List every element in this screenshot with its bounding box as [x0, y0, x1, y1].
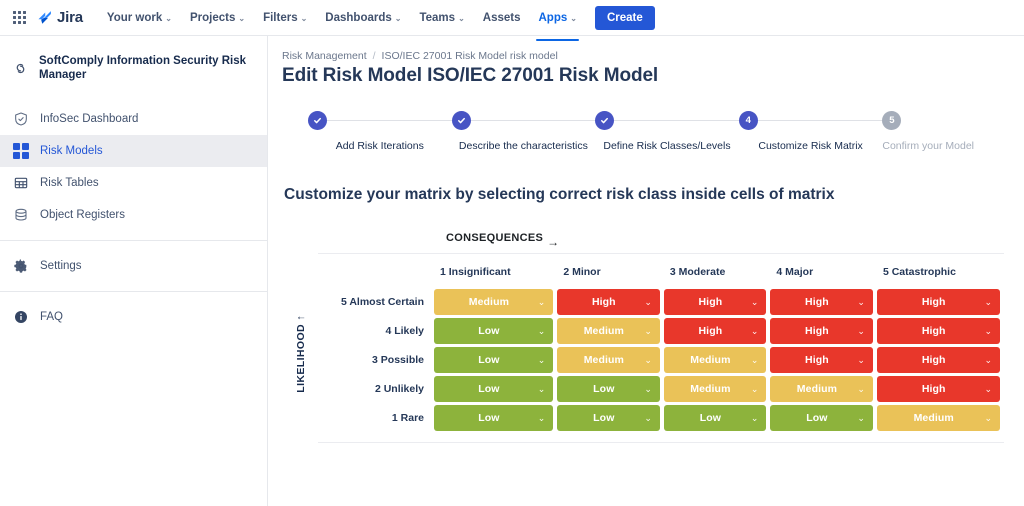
matrix-cell-value: High: [778, 354, 855, 366]
chevron-down-icon[interactable]: ⌄: [644, 385, 652, 394]
chevron-down-icon[interactable]: ⌄: [984, 327, 992, 336]
chevron-down-icon[interactable]: ⌄: [751, 356, 759, 365]
sidebar-spacer: [0, 89, 267, 103]
chevron-down-icon[interactable]: ⌄: [538, 414, 546, 423]
nav-item-your-work[interactable]: Your work ⌄: [99, 4, 180, 32]
chevron-down-icon[interactable]: ⌄: [857, 356, 865, 365]
risk-matrix: LIKELIHOOD ↑ CONSEQUENCES → 1 Insignific…: [282, 224, 1004, 443]
matrix-cell-value: Medium: [672, 354, 749, 366]
nav-item-label: Your work: [107, 12, 162, 24]
jira-wordmark: Jira: [57, 9, 83, 26]
matrix-column-header: 3 Moderate: [664, 257, 767, 286]
matrix-cell-select[interactable]: Low⌄: [434, 318, 553, 344]
matrix-cell-container: High⌄: [770, 318, 873, 344]
matrix-corner-cell: [322, 257, 430, 286]
database-stack-icon: [12, 206, 30, 224]
nav-item-dashboards[interactable]: Dashboards ⌄: [317, 4, 409, 32]
consequences-axis-label: CONSEQUENCES: [446, 232, 543, 244]
matrix-cell-value: Low: [442, 383, 536, 395]
matrix-rows: 5 Almost CertainMedium⌄High⌄High⌄High⌄Hi…: [322, 289, 1000, 431]
sidebar-item-faq[interactable]: FAQ: [0, 301, 267, 333]
jira-logo-icon: [36, 9, 53, 26]
matrix-cell-container: Low⌄: [434, 318, 553, 344]
sidebar: SoftComply Information Security Risk Man…: [0, 36, 268, 506]
sidebar-divider: [0, 240, 267, 241]
app-switcher-grid-icon[interactable]: [10, 9, 28, 27]
matrix-cell-value: High: [672, 296, 749, 308]
nav-item-label: Assets: [483, 12, 521, 24]
nav-item-teams[interactable]: Teams ⌄: [411, 4, 472, 32]
sidebar-item-label: Risk Tables: [40, 177, 99, 189]
matrix-cell-value: Low: [565, 383, 642, 395]
chevron-down-icon[interactable]: ⌄: [751, 385, 759, 394]
matrix-cell-container: Low⌄: [664, 405, 767, 431]
matrix-cell-select[interactable]: High⌄: [664, 318, 767, 344]
chevron-down-icon[interactable]: ⌄: [538, 327, 546, 336]
matrix-cell-container: Medium⌄: [434, 289, 553, 315]
sidebar-item-risk-models[interactable]: Risk Models: [0, 135, 267, 167]
chevron-down-icon: ⌄: [238, 15, 245, 23]
matrix-row: 4 LikelyLow⌄Medium⌄High⌄High⌄High⌄: [322, 318, 1000, 344]
step-marker-upcoming: 5: [882, 111, 901, 130]
breadcrumb: Risk Management / ISO/IEC 27001 Risk Mod…: [282, 50, 1004, 62]
matrix-row-label: 5 Almost Certain: [322, 289, 430, 315]
matrix-cell-select[interactable]: Low⌄: [557, 405, 660, 431]
chevron-down-icon[interactable]: ⌄: [644, 414, 652, 423]
main-inner: Risk Management / ISO/IEC 27001 Risk Mod…: [268, 50, 1024, 443]
nav-item-projects[interactable]: Projects ⌄: [182, 4, 253, 32]
nav-item-label: Teams: [419, 12, 455, 24]
matrix-cell-value: Medium: [565, 325, 642, 337]
step-marker-complete: [452, 111, 471, 130]
matrix-cell-container: Low⌄: [557, 376, 660, 402]
matrix-cell-select[interactable]: High⌄: [557, 289, 660, 315]
jira-home-link[interactable]: Jira: [36, 9, 83, 26]
nav-item-apps[interactable]: Apps ⌄: [530, 4, 584, 32]
matrix-table: 1 Insignificant 2 Minor 3 Moderate 4 Maj…: [318, 254, 1004, 434]
matrix-cell-value: High: [885, 296, 982, 308]
matrix-cell-value: High: [778, 325, 855, 337]
chevron-down-icon[interactable]: ⌄: [538, 356, 546, 365]
sidebar-item-settings[interactable]: Settings: [0, 250, 267, 282]
matrix-cell-select[interactable]: Medium⌄: [664, 376, 767, 402]
matrix-cell-container: High⌄: [877, 289, 1000, 315]
matrix-cell-container: Medium⌄: [664, 376, 767, 402]
matrix-cell-select[interactable]: High⌄: [770, 318, 873, 344]
matrix-cell-container: Low⌄: [557, 405, 660, 431]
page-title: Edit Risk Model ISO/IEC 27001 Risk Model: [282, 65, 1004, 87]
likelihood-axis-label: LIKELIHOOD ↑: [295, 315, 307, 393]
matrix-cell-container: High⌄: [877, 318, 1000, 344]
chevron-down-icon: ⌄: [395, 15, 402, 23]
chevron-down-icon[interactable]: ⌄: [857, 385, 865, 394]
matrix-cell-container: Medium⌄: [877, 405, 1000, 431]
sidebar-app-title: SoftComply Information Security Risk Man…: [39, 54, 253, 83]
chevron-down-icon: ⌄: [301, 15, 308, 23]
matrix-row: 5 Almost CertainMedium⌄High⌄High⌄High⌄Hi…: [322, 289, 1000, 315]
matrix-row: 3 PossibleLow⌄Medium⌄Medium⌄High⌄High⌄: [322, 347, 1000, 373]
chevron-down-icon: ⌄: [458, 15, 465, 23]
matrix-cell-select[interactable]: High⌄: [664, 289, 767, 315]
nav-item-label: Dashboards: [325, 12, 391, 24]
grid-squares-icon: [12, 142, 30, 160]
create-button[interactable]: Create: [595, 6, 655, 30]
step-marker-complete: [308, 111, 327, 130]
section-title: Customize your matrix by selecting corre…: [284, 186, 1004, 204]
chevron-down-icon[interactable]: ⌄: [538, 298, 546, 307]
matrix-cell-container: Low⌄: [770, 405, 873, 431]
chevron-down-icon[interactable]: ⌄: [984, 298, 992, 307]
chevron-down-icon[interactable]: ⌄: [538, 385, 546, 394]
sidebar-item-infosec-dashboard[interactable]: InfoSec Dashboard: [0, 103, 267, 135]
matrix-cell-container: High⌄: [664, 318, 767, 344]
chevron-down-icon[interactable]: ⌄: [857, 414, 865, 423]
matrix-cell-select[interactable]: High⌄: [770, 289, 873, 315]
matrix-row: 2 UnlikelyLow⌄Low⌄Medium⌄Medium⌄High⌄: [322, 376, 1000, 402]
matrix-cell-value: High: [885, 325, 982, 337]
sidebar-item-label: Object Registers: [40, 209, 125, 221]
step-label: Define Risk Classes/Levels: [603, 140, 730, 152]
matrix-cell-select[interactable]: High⌄: [877, 318, 1000, 344]
matrix-cell-container: High⌄: [877, 347, 1000, 373]
matrix-cell-container: Medium⌄: [664, 347, 767, 373]
matrix-cell-value: Low: [672, 412, 749, 424]
table-icon: [12, 174, 30, 192]
nav-item-filters[interactable]: Filters ⌄: [255, 4, 315, 32]
matrix-row-label: 1 Rare: [322, 405, 430, 431]
matrix-cell-value: High: [885, 383, 982, 395]
wizard-stepper: Add Risk Iterations Describe the charact…: [282, 111, 1004, 152]
step-label: Confirm your Model: [882, 140, 974, 152]
nav-item-label: Filters: [263, 12, 298, 24]
matrix-cell-value: Low: [442, 412, 536, 424]
chevron-down-icon[interactable]: ⌄: [857, 298, 865, 307]
nav-item-label: Projects: [190, 12, 235, 24]
step-label: Describe the characteristics: [459, 140, 588, 152]
main-content: Risk Management / ISO/IEC 27001 Risk Mod…: [268, 36, 1024, 506]
matrix-cell-container: Medium⌄: [770, 376, 873, 402]
step-label: Add Risk Iterations: [336, 140, 424, 152]
chevron-down-icon[interactable]: ⌄: [857, 327, 865, 336]
matrix-cell-select[interactable]: Low⌄: [434, 376, 553, 402]
matrix-cell-value: Medium: [565, 354, 642, 366]
matrix-cell-select[interactable]: High⌄: [770, 347, 873, 373]
likelihood-axis: LIKELIHOOD ↑: [284, 224, 318, 443]
matrix-cell-value: High: [885, 354, 982, 366]
matrix-row-label: 3 Possible: [322, 347, 430, 373]
gear-icon: [12, 257, 30, 275]
chevron-down-icon: ⌄: [165, 15, 172, 23]
matrix-cell-select[interactable]: Medium⌄: [770, 376, 873, 402]
step-connector: [327, 120, 452, 121]
matrix-cell-value: Low: [442, 354, 536, 366]
page-shell: SoftComply Information Security Risk Man…: [0, 36, 1024, 506]
chevron-down-icon[interactable]: ⌄: [644, 356, 652, 365]
matrix-cell-select[interactable]: High⌄: [877, 376, 1000, 402]
matrix-cell-select[interactable]: High⌄: [877, 347, 1000, 373]
sidebar-item-label: Risk Models: [40, 145, 103, 157]
matrix-cell-select[interactable]: Low⌄: [557, 376, 660, 402]
matrix-cell-select[interactable]: Medium⌄: [877, 405, 1000, 431]
matrix-cell-value: Low: [442, 325, 536, 337]
info-circle-icon: [12, 308, 30, 326]
breadcrumb-item-risk-model[interactable]: ISO/IEC 27001 Risk Model risk model: [382, 50, 558, 62]
matrix-column-header: 2 Minor: [557, 257, 660, 286]
sidebar-item-risk-tables[interactable]: Risk Tables: [0, 167, 267, 199]
matrix-cell-value: High: [672, 325, 749, 337]
step-marker-complete: [595, 111, 614, 130]
matrix-row-label: 4 Likely: [322, 318, 430, 344]
matrix-cell-value: High: [565, 296, 642, 308]
step-customize-risk-matrix[interactable]: 4 Customize Risk Matrix: [739, 111, 883, 152]
matrix-cell-select[interactable]: Low⌄: [434, 405, 553, 431]
sidebar-item-label: FAQ: [40, 311, 63, 323]
chevron-down-icon[interactable]: ⌄: [984, 356, 992, 365]
matrix-column-header: 4 Major: [770, 257, 873, 286]
sidebar-divider-2: [0, 291, 267, 292]
matrix-cell-container: High⌄: [770, 289, 873, 315]
step-add-risk-iterations[interactable]: Add Risk Iterations: [308, 111, 452, 152]
matrix-cell-container: Low⌄: [434, 376, 553, 402]
matrix-cell-select[interactable]: Medium⌄: [434, 289, 553, 315]
step-connector: [758, 120, 883, 121]
matrix-body: CONSEQUENCES → 1 Insignificant 2 Minor 3…: [318, 224, 1004, 443]
sidebar-app-header: SoftComply Information Security Risk Man…: [0, 48, 267, 89]
step-label: Customize Risk Matrix: [758, 140, 862, 152]
sidebar-item-object-registers[interactable]: Object Registers: [0, 199, 267, 231]
matrix-cell-value: High: [778, 296, 855, 308]
matrix-cell-value: Medium: [778, 383, 855, 395]
chevron-down-icon[interactable]: ⌄: [984, 385, 992, 394]
matrix-row-label: 2 Unlikely: [322, 376, 430, 402]
matrix-row: 1 RareLow⌄Low⌄Low⌄Low⌄Medium⌄: [322, 405, 1000, 431]
consequences-axis: CONSEQUENCES →: [318, 224, 1004, 244]
chevron-down-icon[interactable]: ⌄: [751, 298, 759, 307]
step-confirm-your-model[interactable]: 5 Confirm your Model: [882, 111, 974, 152]
sidebar-item-label: InfoSec Dashboard: [40, 113, 138, 125]
breadcrumb-item-risk-management[interactable]: Risk Management: [282, 50, 367, 62]
step-connector: [614, 120, 739, 121]
matrix-cell-select[interactable]: Medium⌄: [664, 347, 767, 373]
step-marker-current: 4: [739, 111, 758, 130]
matrix-cell-value: Medium: [885, 412, 982, 424]
top-navigation-bar: Jira Your work ⌄ Projects ⌄ Filters ⌄ Da…: [0, 0, 1024, 36]
chevron-down-icon[interactable]: ⌄: [751, 414, 759, 423]
matrix-column-header: 1 Insignificant: [434, 257, 553, 286]
primary-nav-items: Your work ⌄ Projects ⌄ Filters ⌄ Dashboa…: [99, 4, 585, 32]
step-define-risk-classes-levels[interactable]: Define Risk Classes/Levels: [595, 111, 739, 152]
nav-item-assets[interactable]: Assets: [475, 4, 529, 32]
matrix-cell-value: Low: [565, 412, 642, 424]
chevron-down-icon[interactable]: ⌄: [984, 414, 992, 423]
matrix-cell-select[interactable]: High⌄: [877, 289, 1000, 315]
chevron-down-icon: ⌄: [570, 15, 577, 23]
step-connector: [471, 120, 596, 121]
matrix-cell-container: Medium⌄: [557, 318, 660, 344]
chevron-down-icon[interactable]: ⌄: [644, 327, 652, 336]
matrix-cell-select[interactable]: Medium⌄: [557, 318, 660, 344]
arrow-right-icon: →: [547, 236, 559, 248]
matrix-cell-select[interactable]: Medium⌄: [557, 347, 660, 373]
step-describe-the-characteristics[interactable]: Describe the characteristics: [452, 111, 596, 152]
matrix-cell-value: Medium: [442, 296, 536, 308]
chevron-down-icon[interactable]: ⌄: [644, 298, 652, 307]
matrix-cell-container: High⌄: [557, 289, 660, 315]
shield-check-icon: [12, 110, 30, 128]
matrix-header-row: 1 Insignificant 2 Minor 3 Moderate 4 Maj…: [322, 257, 1000, 286]
matrix-cell-container: Low⌄: [434, 347, 553, 373]
matrix-bottom-rule: [318, 442, 1004, 443]
matrix-cell-select[interactable]: Low⌄: [770, 405, 873, 431]
matrix-cell-select[interactable]: Low⌄: [664, 405, 767, 431]
softcomply-spiral-icon: [12, 59, 29, 77]
matrix-cell-container: High⌄: [770, 347, 873, 373]
matrix-column-header: 5 Catastrophic: [877, 257, 1000, 286]
matrix-cell-container: Low⌄: [434, 405, 553, 431]
breadcrumb-separator: /: [373, 50, 376, 62]
matrix-cell-value: Medium: [672, 383, 749, 395]
matrix-cell-select[interactable]: Low⌄: [434, 347, 553, 373]
matrix-cell-value: Low: [778, 412, 855, 424]
matrix-cell-container: High⌄: [877, 376, 1000, 402]
sidebar-item-label: Settings: [40, 260, 82, 272]
matrix-cell-container: High⌄: [664, 289, 767, 315]
nav-item-label: Apps: [538, 12, 567, 24]
chevron-down-icon[interactable]: ⌄: [751, 327, 759, 336]
matrix-cell-container: Medium⌄: [557, 347, 660, 373]
